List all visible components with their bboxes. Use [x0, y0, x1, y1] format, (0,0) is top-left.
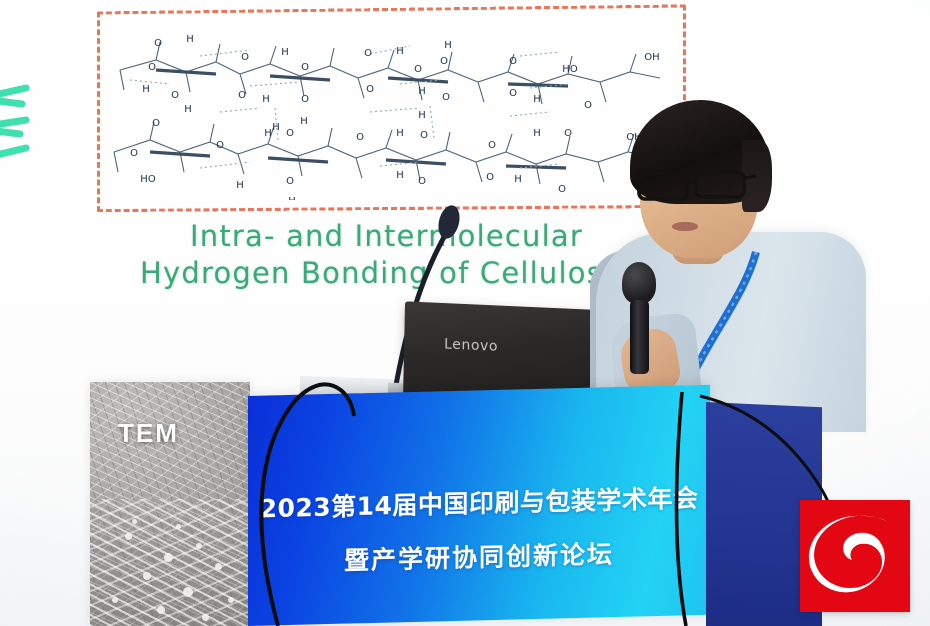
svg-text:H: H — [186, 34, 194, 45]
svg-text:H: H — [514, 174, 522, 185]
svg-text:O: O — [241, 52, 249, 63]
svg-text:H: H — [533, 128, 541, 139]
svg-text:H: H — [281, 47, 289, 58]
svg-text:H: H — [236, 180, 244, 191]
svg-text:H: H — [142, 84, 150, 95]
svg-text:H: H — [184, 104, 192, 115]
svg-text:HO: HO — [562, 64, 578, 75]
svg-text:H: H — [418, 110, 426, 121]
svg-text:O: O — [171, 90, 179, 101]
svg-text:H: H — [272, 122, 280, 133]
svg-text:O: O — [488, 140, 496, 151]
svg-text:O: O — [301, 62, 309, 73]
svg-text:O: O — [154, 38, 162, 49]
svg-text:O: O — [356, 132, 364, 143]
svg-text:H: H — [396, 170, 404, 181]
svg-text:O: O — [420, 130, 428, 141]
svg-text:O: O — [152, 118, 160, 129]
conference-photo-scene: HO OOH OOH HOO OHOOH HOH OHO OHO OHO HHH… — [0, 0, 930, 626]
svg-text:H: H — [444, 40, 452, 51]
svg-text:O: O — [584, 100, 592, 111]
svg-text:O: O — [216, 140, 224, 151]
svg-text:O: O — [440, 56, 448, 67]
svg-text:O: O — [414, 64, 422, 75]
speaker-glasses — [636, 168, 758, 202]
svg-text:O: O — [364, 48, 372, 59]
cellulose-structure-diagram: HO OOH OOH HOO OHOOH HOH OHO OHO OHO HHH… — [100, 12, 675, 200]
svg-text:O: O — [238, 90, 246, 101]
speaker-mouth — [672, 222, 698, 231]
svg-text:HO: HO — [140, 174, 156, 185]
svg-text:H: H — [396, 46, 404, 57]
svg-text:O: O — [301, 94, 309, 105]
svg-text:O: O — [130, 148, 138, 159]
svg-text:O: O — [509, 88, 517, 99]
svg-text:H: H — [288, 196, 296, 200]
svg-text:H: H — [533, 94, 541, 105]
tem-label: TEM — [118, 418, 179, 449]
svg-text:O: O — [509, 56, 517, 67]
svg-text:O: O — [486, 172, 494, 183]
svg-text:O: O — [564, 128, 572, 139]
microphone-head — [622, 262, 656, 304]
svg-text:H: H — [264, 128, 272, 139]
tem-micrograph-panel: TEM — [90, 382, 250, 626]
svg-text:O: O — [558, 184, 566, 195]
svg-text:H: H — [396, 128, 404, 139]
svg-text:O: O — [286, 128, 294, 139]
svg-text:O: O — [366, 84, 374, 95]
svg-text:H: H — [418, 86, 426, 97]
svg-text:O: O — [286, 176, 294, 187]
svg-text:O: O — [442, 92, 450, 103]
svg-text:OH: OH — [644, 52, 659, 63]
svg-text:H: H — [262, 94, 270, 105]
teal-arrow-marks — [0, 70, 56, 170]
svg-text:O: O — [148, 62, 156, 73]
china-printing-association-logo — [800, 500, 910, 612]
svg-text:H: H — [300, 116, 308, 127]
svg-text:O: O — [418, 176, 426, 187]
